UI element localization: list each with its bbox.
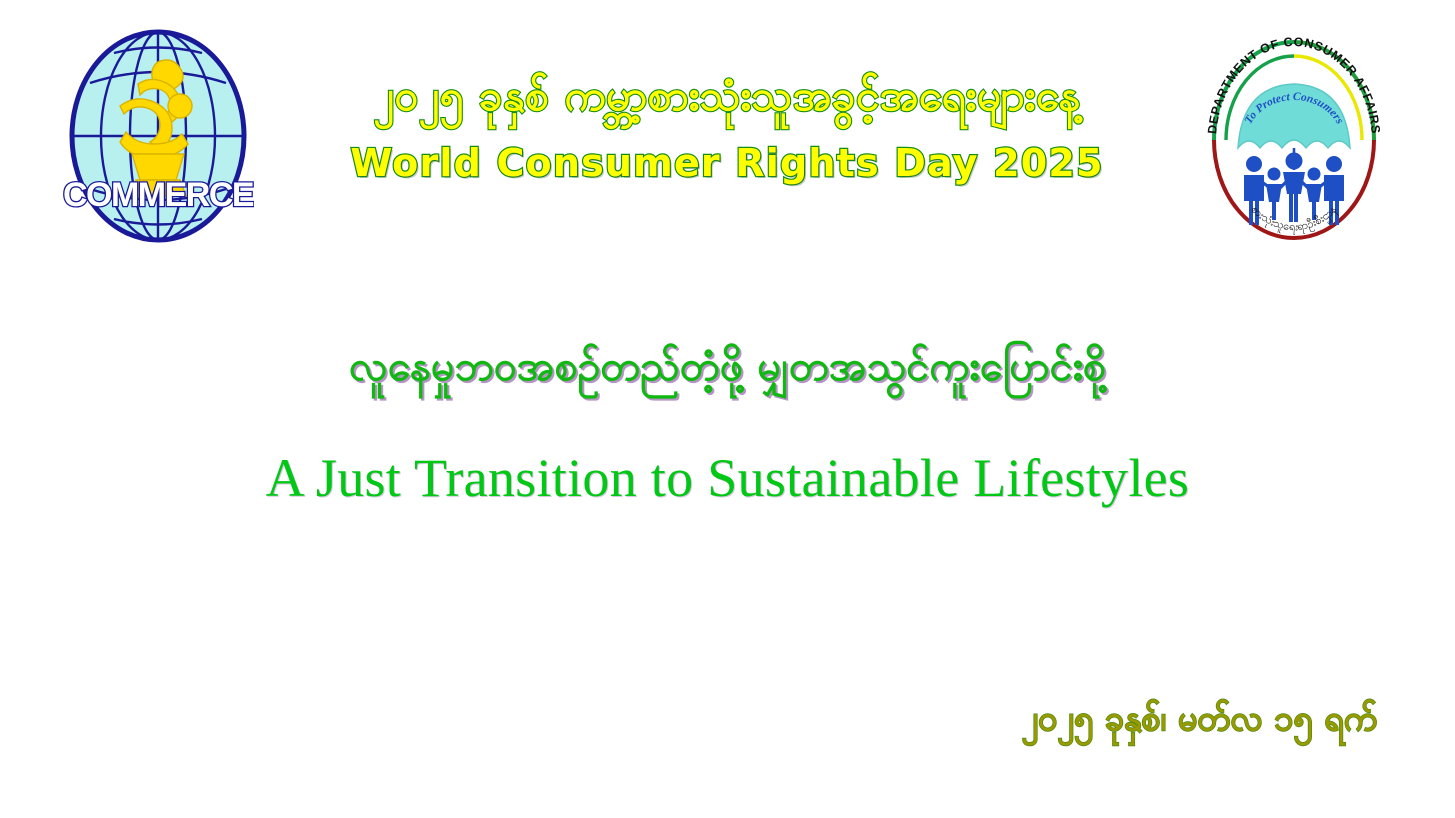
commerce-wordmark: COMMERCE bbox=[63, 176, 254, 214]
header-title-block: ၂၀၂၅ ခုနှစ် ကမ္ဘာ့စားသုံးသူအခွင့်အရေးမျာ… bbox=[262, 70, 1192, 185]
theme-text-english: A Just Transition to Sustainable Lifesty… bbox=[0, 447, 1455, 509]
theme-text-burmese: လူနေမှုဘဝအစဉ်တည်တံ့ဖို့ မျှတအသွင်ကူးပြော… bbox=[0, 340, 1455, 393]
header-title-burmese: ၂၀၂၅ ခုနှစ် ကမ္ဘာ့စားသုံးသူအခွင့်အရေးမျာ… bbox=[262, 70, 1192, 123]
ministry-of-commerce-logo: COMMERCE bbox=[62, 28, 254, 244]
theme-block: လူနေမှုဘဝအစဉ်တည်တံ့ဖို့ မျှတအသွင်ကူးပြော… bbox=[0, 340, 1455, 509]
event-date: ၂၀၂၅ ခုနှစ်၊ မတ်လ ၁၅ ရက် bbox=[1021, 696, 1377, 747]
header-title-english: World Consumer Rights Day 2025 bbox=[262, 141, 1192, 185]
header-band: COMMERCE ၂၀၂၅ ခုနှစ် ကမ္ဘာ့စားသုံးသူအခွင… bbox=[0, 0, 1455, 270]
department-of-consumer-affairs-logo: DEPARTMENT OF CONSUMER AFFAIRS To Protec… bbox=[1198, 30, 1390, 244]
